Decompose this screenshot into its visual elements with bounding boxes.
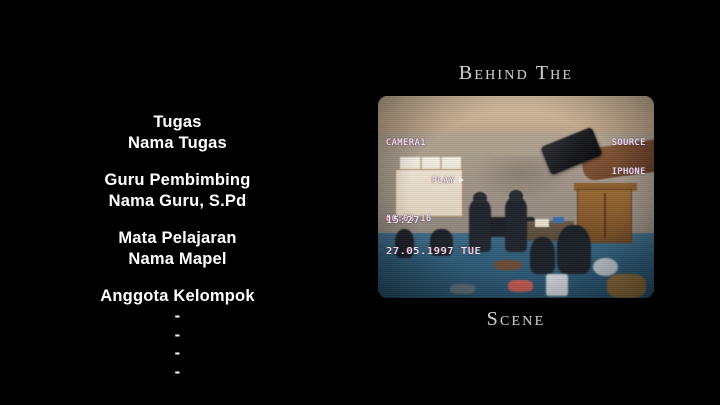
credit-heading: Tugas <box>0 112 355 133</box>
credit-block-anggota-kelompok: Anggota Kelompok - - - - <box>0 286 355 381</box>
scene-floor-object <box>546 274 568 296</box>
list-item: - <box>0 344 355 363</box>
scene-whiteboard <box>395 169 463 217</box>
scene-person-seated <box>557 225 590 273</box>
scene-person-seated <box>430 229 452 255</box>
scene-person-head <box>509 190 523 202</box>
credit-block-guru-pembimbing: Guru Pembimbing Nama Guru, S.Pd <box>0 170 355 212</box>
list-item: - <box>0 363 355 382</box>
title-line-top: Behind The <box>378 62 654 85</box>
list-item: - <box>0 307 355 326</box>
scene-person-seated <box>530 237 555 273</box>
video-preview-frame[interactable]: CAMERA1 PLAY 00:08:16 SOURCE IPHONE 15:2… <box>378 96 654 298</box>
scene-floor-object <box>593 258 618 276</box>
title-line-bottom: Scene <box>378 308 654 331</box>
scene-person-standing <box>505 197 527 252</box>
video-credits-screen: Tugas Nama Tugas Guru Pembimbing Nama Gu… <box>0 0 720 405</box>
credit-block-tugas: Tugas Nama Tugas <box>0 112 355 154</box>
credit-block-mata-pelajaran: Mata Pelajaran Nama Mapel <box>0 228 355 270</box>
scene-person-standing <box>469 199 491 252</box>
credit-value: Nama Guru, S.Pd <box>0 191 355 212</box>
scene-floor-object <box>607 274 646 298</box>
scene-person-head <box>473 192 487 204</box>
list-item: - <box>0 326 355 345</box>
scene-desk-paper <box>535 219 549 227</box>
scene-floor-object <box>450 284 475 294</box>
credits-column: Tugas Nama Tugas Guru Pembimbing Nama Gu… <box>0 112 355 381</box>
credit-value: Nama Mapel <box>0 249 355 270</box>
scene-floor-object <box>494 260 522 270</box>
scene-person-seated <box>395 229 414 257</box>
credit-heading: Anggota Kelompok <box>0 286 355 307</box>
credit-value: Nama Tugas <box>0 133 355 154</box>
scene-desk-object <box>553 217 564 223</box>
credit-heading: Guru Pembimbing <box>0 170 355 191</box>
credit-heading: Mata Pelajaran <box>0 228 355 249</box>
scene-floor-object <box>508 280 533 292</box>
